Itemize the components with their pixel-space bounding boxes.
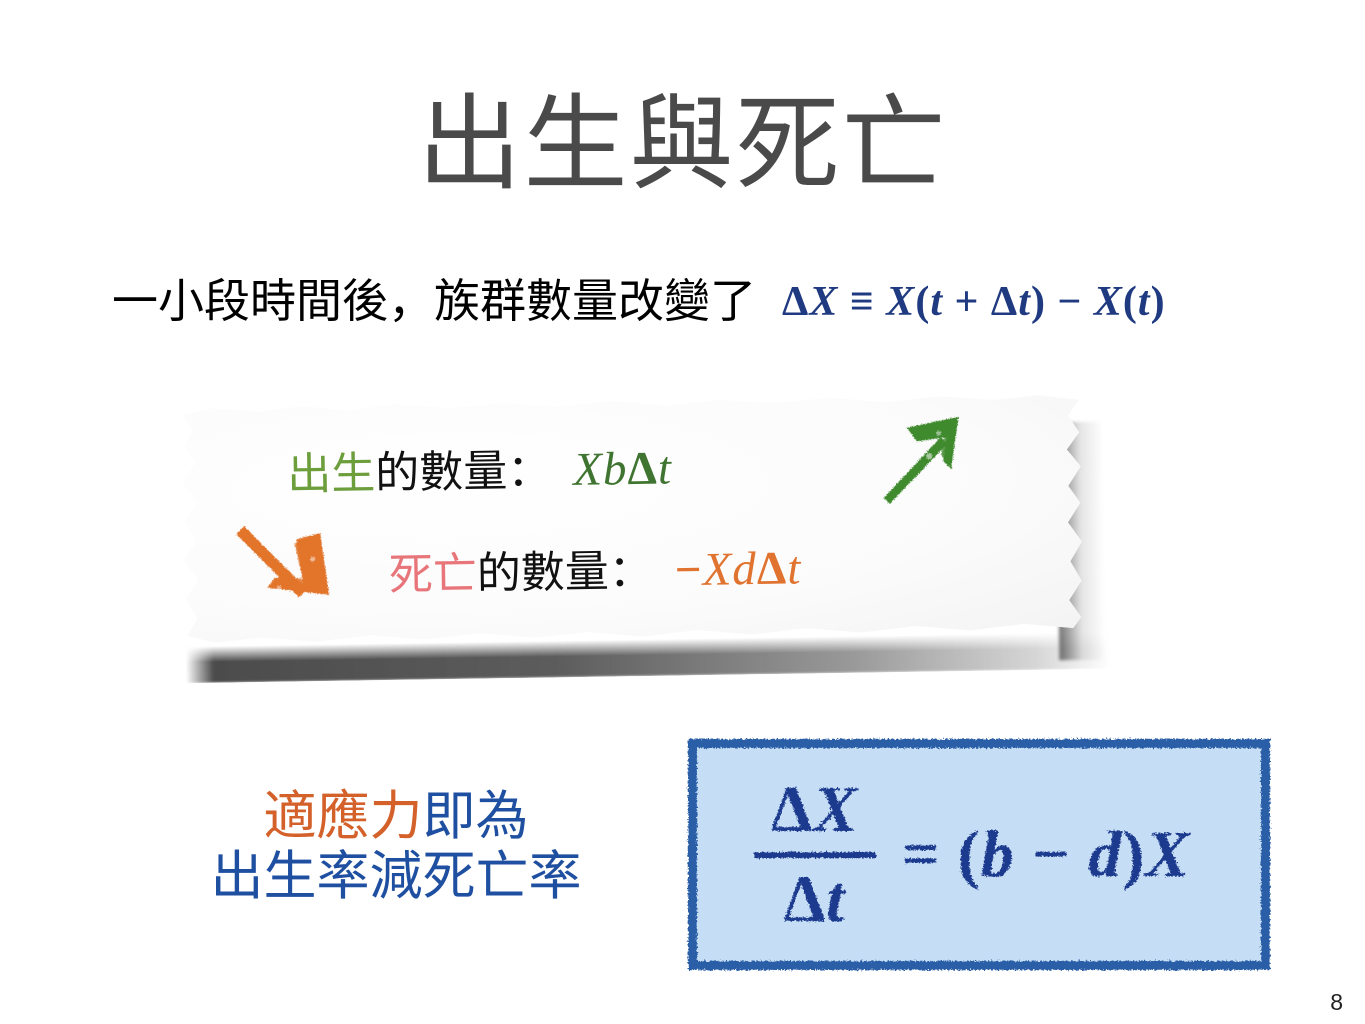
delta-x-over-delta-t-fraction: ΔX Δt xyxy=(754,771,876,939)
fitness-statement-line2: 出生率減死亡率 xyxy=(136,848,656,908)
equation-right-hand-side: = (b − d)X xyxy=(902,817,1191,893)
equation-content: ΔX Δt = (b − d)X xyxy=(768,771,1191,939)
birth-formula: XbΔt xyxy=(573,442,673,496)
birth-label-rest: 的數量： xyxy=(375,446,552,498)
birth-label-highlight: 出生 xyxy=(287,449,376,499)
fitness-statement-line1: 適應力即為 xyxy=(136,788,656,848)
death-label-rest: 的數量： xyxy=(476,547,653,599)
death-label-highlight: 死亡 xyxy=(388,549,477,599)
fitness-statement: 適應力即為 出生率減死亡率 xyxy=(136,788,656,908)
fraction-numerator: ΔX xyxy=(763,771,866,849)
subtitle-row: 一小段時間後，族群數量改變了 ΔX ≡ X(t + Δt) − X(t) xyxy=(112,277,1312,328)
fitness-highlight: 適應力 xyxy=(264,788,423,846)
fitness-line1-rest: 即為 xyxy=(423,788,529,846)
subtitle-text: 一小段時間後，族群數量改變了 xyxy=(112,277,756,328)
arrow-up-right-icon xyxy=(876,411,973,504)
torn-paper-card: 出生的數量：XbΔt 死亡的數量：−XdΔt xyxy=(178,398,1103,666)
birth-count-line: 出生的數量：XbΔt xyxy=(287,445,672,498)
page-title: 出生與死亡 xyxy=(0,88,1365,204)
equation-box: ΔX Δt = (b − d)X xyxy=(688,739,1270,970)
arrow-down-right-icon xyxy=(236,521,338,627)
fraction-bar xyxy=(754,852,876,858)
death-count-line: 死亡的數量：−XdΔt xyxy=(388,545,801,598)
fraction-denominator: Δt xyxy=(776,861,854,939)
delta-x-definition-formula: ΔX ≡ X(t + Δt) − X(t) xyxy=(782,278,1166,326)
page-number: 8 xyxy=(1330,989,1343,1016)
card-content: 出生的數量：XbΔt 死亡的數量：−XdΔt xyxy=(176,391,1088,648)
death-formula: −XdΔt xyxy=(674,542,801,596)
